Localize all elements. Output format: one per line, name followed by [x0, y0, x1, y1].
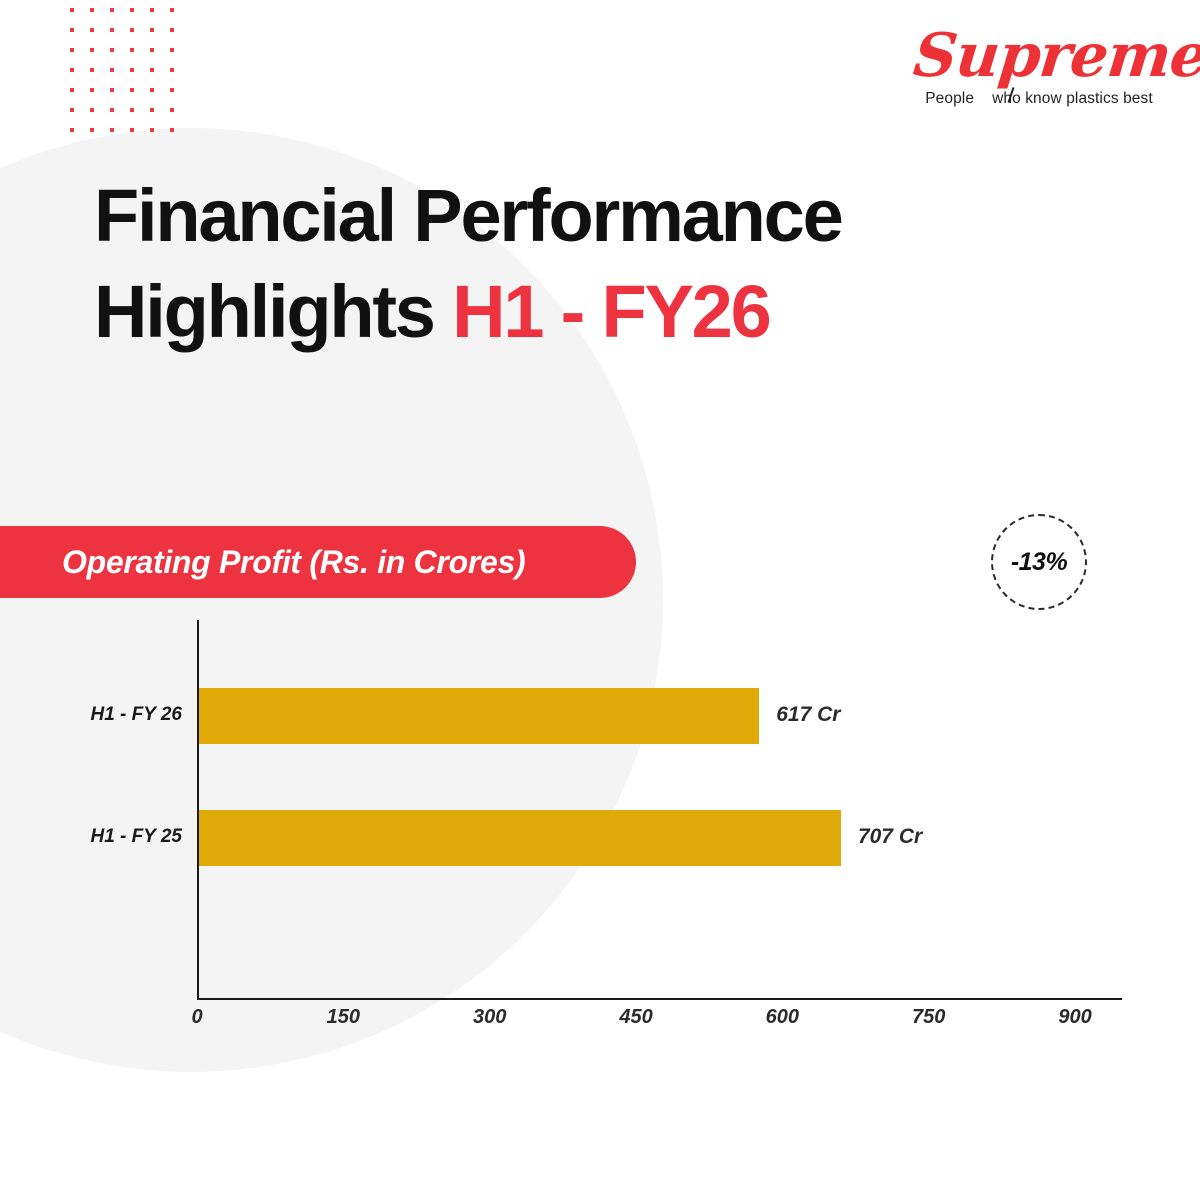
logo-wordmark-text: Supreme: [910, 21, 1200, 91]
metric-banner: Operating Profit (Rs. in Crores): [0, 526, 636, 598]
chart-x-tick-label: 600: [766, 1006, 799, 1029]
logo-wordmark: Supreme ®: [911, 24, 1200, 88]
chart-bar-value-label: 707 Cr: [858, 825, 922, 849]
chart-category-label: H1 - FY 26: [90, 704, 182, 726]
chart-category-label: H1 - FY 25: [90, 826, 182, 848]
logo-tagline-right: who know plastics best: [992, 90, 1153, 107]
chart-x-tick-label: 0: [191, 1006, 202, 1029]
logo-tagline-left: People: [925, 90, 974, 107]
chart-x-tick-label: 450: [619, 1006, 652, 1029]
chart-x-axis: [197, 998, 1122, 1000]
page-title: Financial Performance Highlights H1 - FY…: [94, 168, 842, 360]
chart-bar: [199, 688, 759, 744]
chart-x-tick-label: 900: [1058, 1006, 1091, 1029]
page-title-line2: Highlights: [94, 270, 434, 353]
page-title-period: H1 - FY26: [452, 270, 769, 353]
chart-x-tick-label: 750: [912, 1006, 945, 1029]
chart-bar: [199, 810, 841, 866]
page-title-line1: Financial Performance: [94, 174, 842, 257]
supreme-logo: Supreme ® Peoplewho know plastics best: [914, 24, 1164, 108]
chart-x-tick-label: 300: [473, 1006, 506, 1029]
chart-bar-value-label: 617 Cr: [776, 703, 840, 727]
metric-banner-label: Operating Profit (Rs. in Crores): [62, 544, 525, 581]
change-badge: -13%: [991, 514, 1087, 610]
chart-x-tick-label: 150: [327, 1006, 360, 1029]
change-badge-value: -13%: [1011, 548, 1067, 577]
logo-tagline: Peoplewho know plastics best: [914, 90, 1164, 108]
